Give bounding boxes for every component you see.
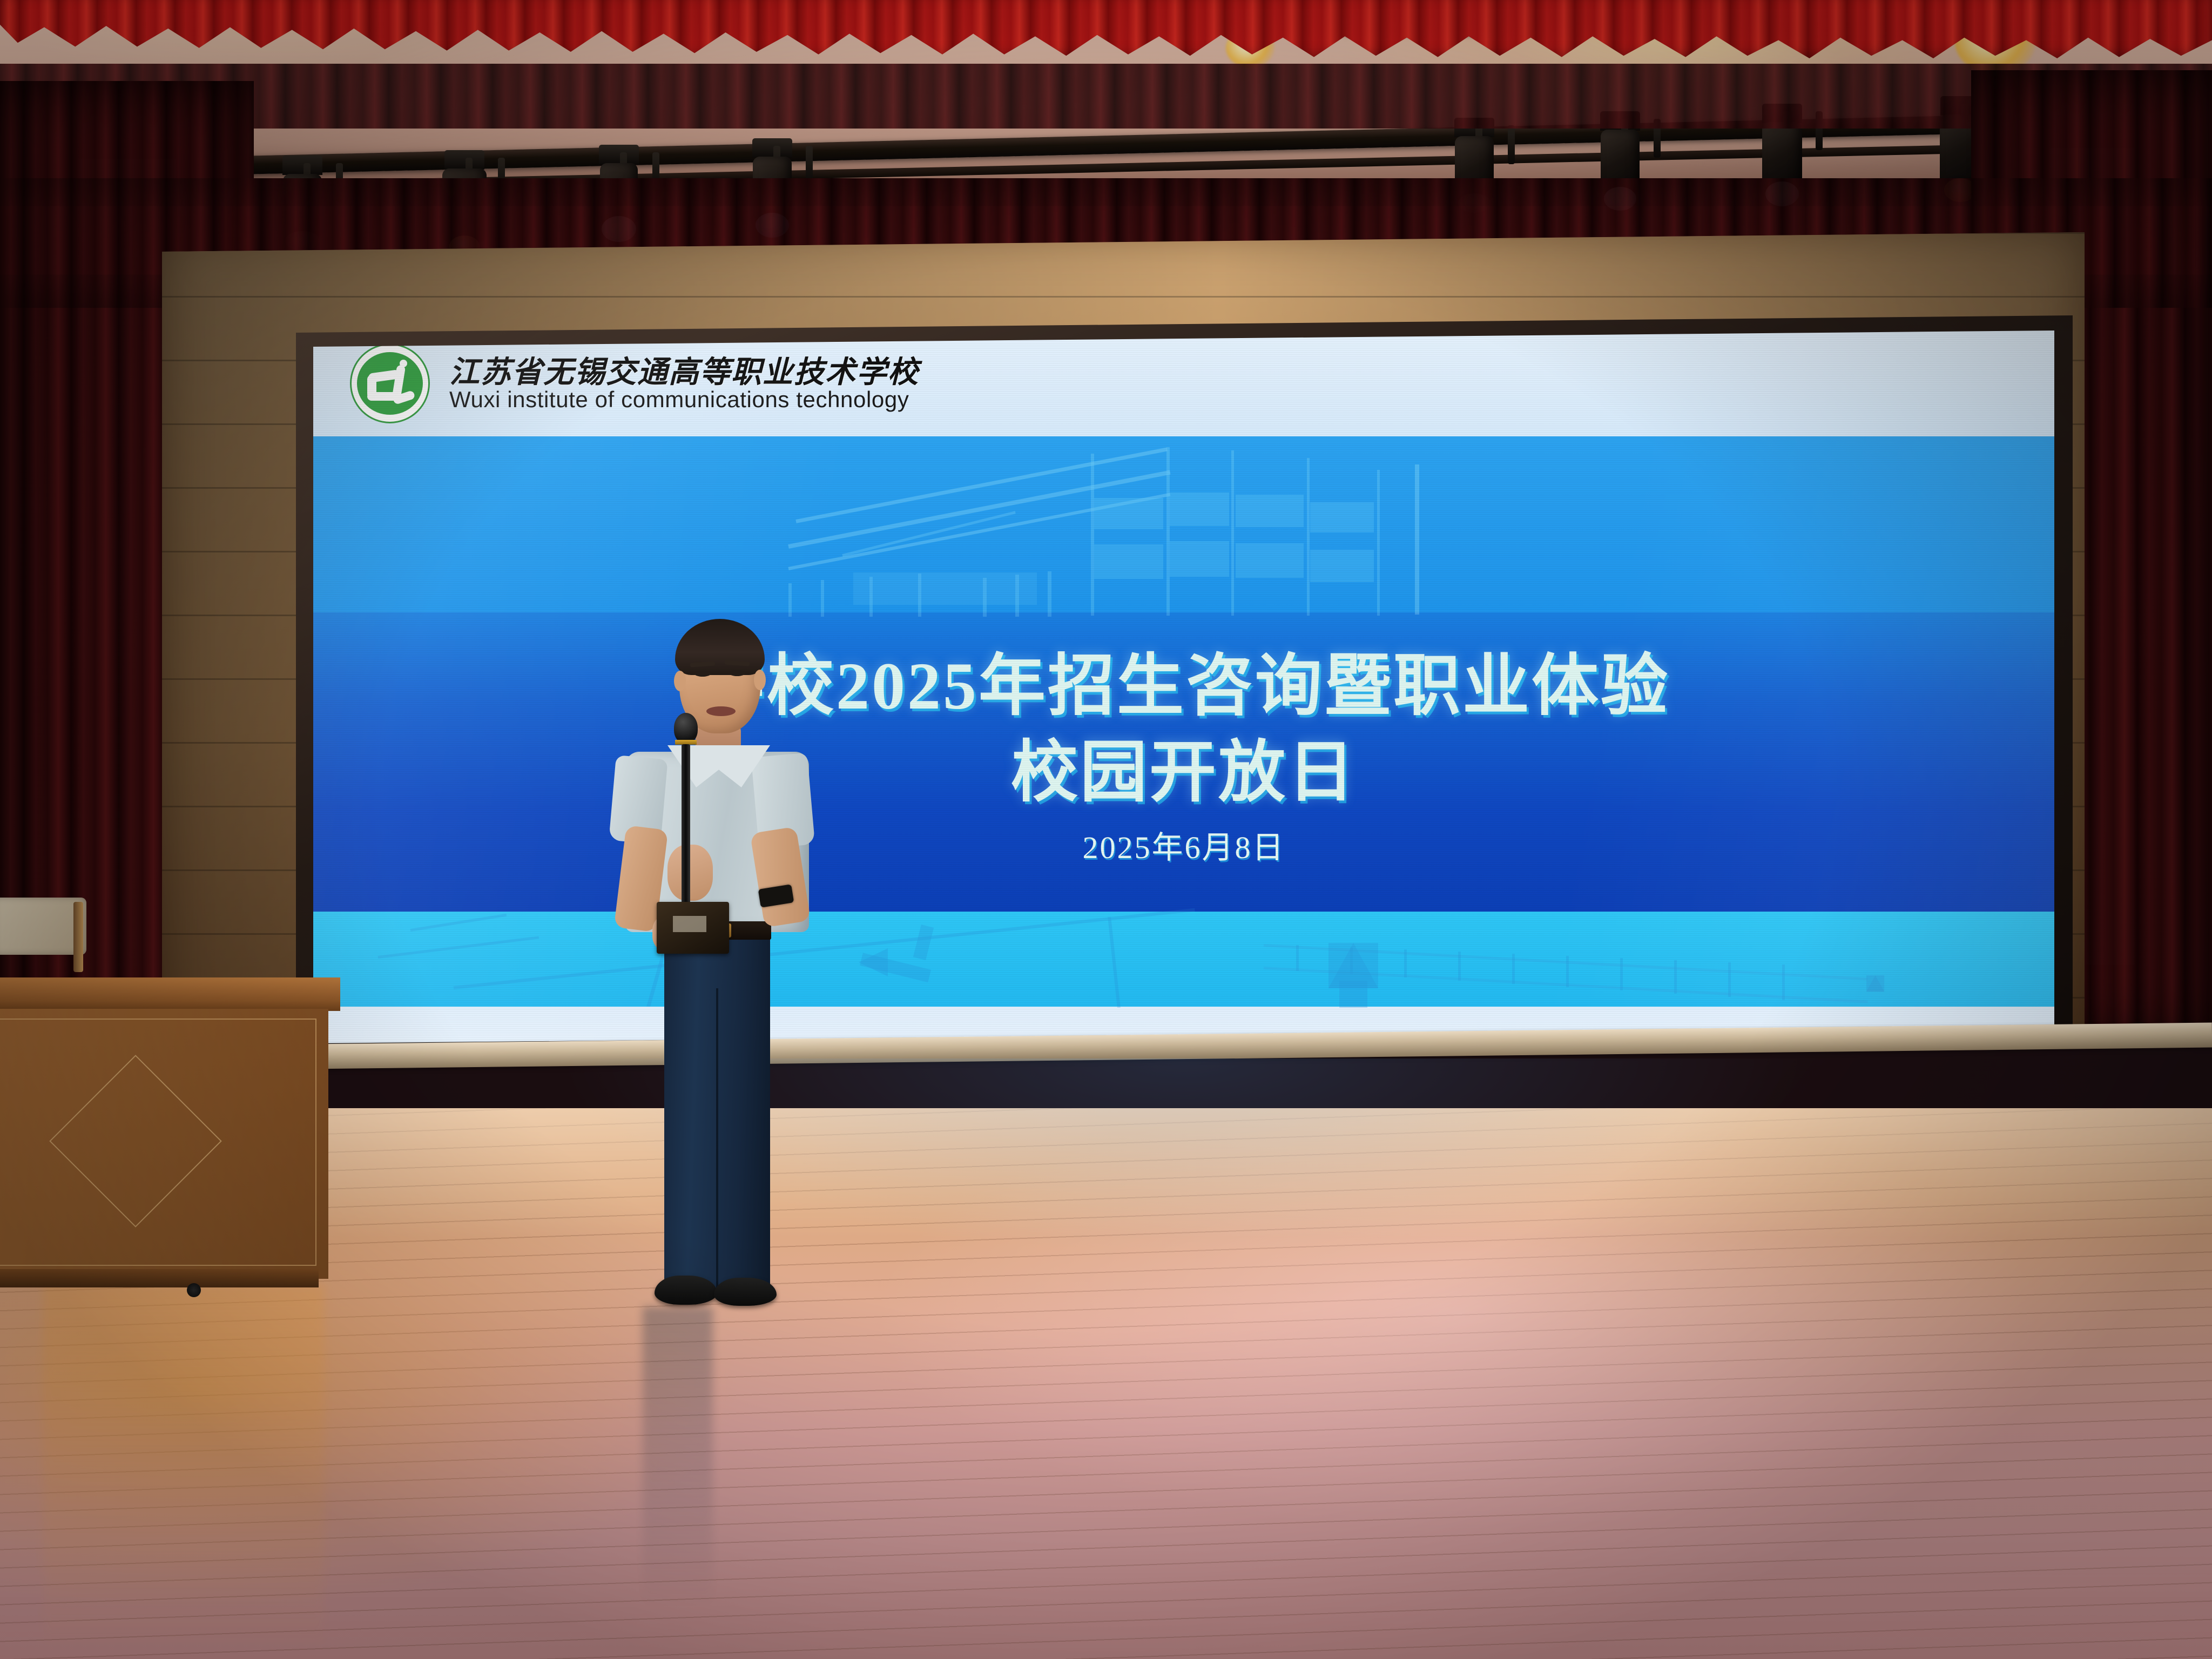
slide-title-line2: 校园开放日 [313, 717, 2054, 814]
presenter-hand-on-mic [667, 845, 713, 901]
wooden-lectern[interactable] [0, 977, 340, 1307]
chair-frame [73, 902, 83, 972]
campus-road-watermark [313, 909, 2054, 1008]
school-logo [350, 343, 430, 423]
presenter-shoe [655, 1276, 717, 1305]
led-presentation-screen[interactable]: 江苏省无锡交通高等职业技术学校 Wuxi institute of commun… [313, 331, 2054, 1043]
presenter [594, 610, 853, 1318]
stage-curtain-top-band [0, 64, 2212, 129]
presenter-mouth [706, 706, 736, 716]
presenter-hair [675, 619, 765, 675]
lectern-floor-reflection [43, 1285, 324, 1642]
school-name-english: Wuxi institute of communications technol… [449, 387, 909, 413]
campus-building-watermark [788, 439, 1426, 617]
presenter-eye [694, 671, 711, 677]
slide-title-line1: 学校2025年招生咨询暨职业体验 [313, 631, 2054, 728]
microphone-stem [682, 744, 690, 909]
microphone-head [674, 713, 698, 743]
presenter-ear [674, 671, 686, 691]
transmitter-label [673, 916, 706, 932]
auditorium-stage-scene: 江苏省无锡交通高等职业技术学校 Wuxi institute of commun… [0, 0, 2212, 1659]
lectern-caster-wheel [187, 1283, 201, 1297]
speaker-floor-reflection [643, 1307, 713, 1609]
school-name-chinese: 江苏省无锡交通高等职业技术学校 [449, 348, 919, 392]
lectern-base [0, 1269, 319, 1287]
presenter-eye [729, 670, 745, 676]
presenter-shoe [714, 1278, 777, 1306]
trouser-seam [716, 988, 718, 1289]
lectern-top-surface [0, 977, 340, 1011]
logo-mark-dot [400, 360, 407, 367]
slide-date: 2025年6月8日 [313, 822, 2054, 867]
presenter-ear [754, 670, 766, 690]
